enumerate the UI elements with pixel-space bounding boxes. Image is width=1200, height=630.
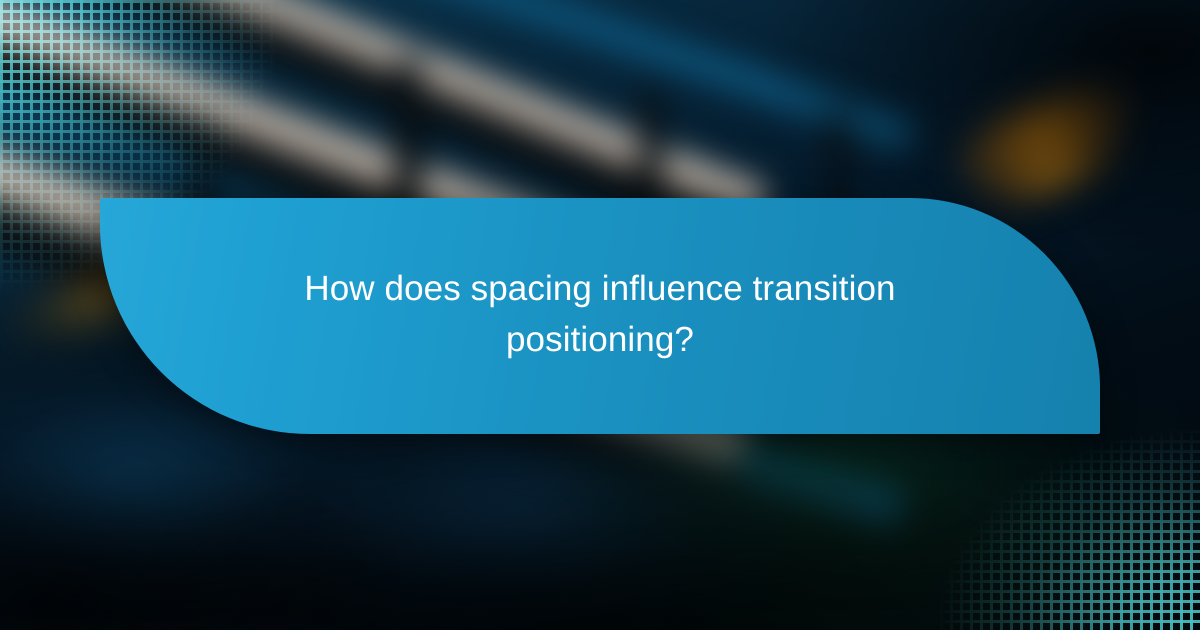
social-card-canvas: How does spacing influence transition po… bbox=[0, 0, 1200, 630]
question-card: How does spacing influence transition po… bbox=[100, 198, 1100, 434]
question-text: How does spacing influence transition po… bbox=[250, 264, 950, 368]
